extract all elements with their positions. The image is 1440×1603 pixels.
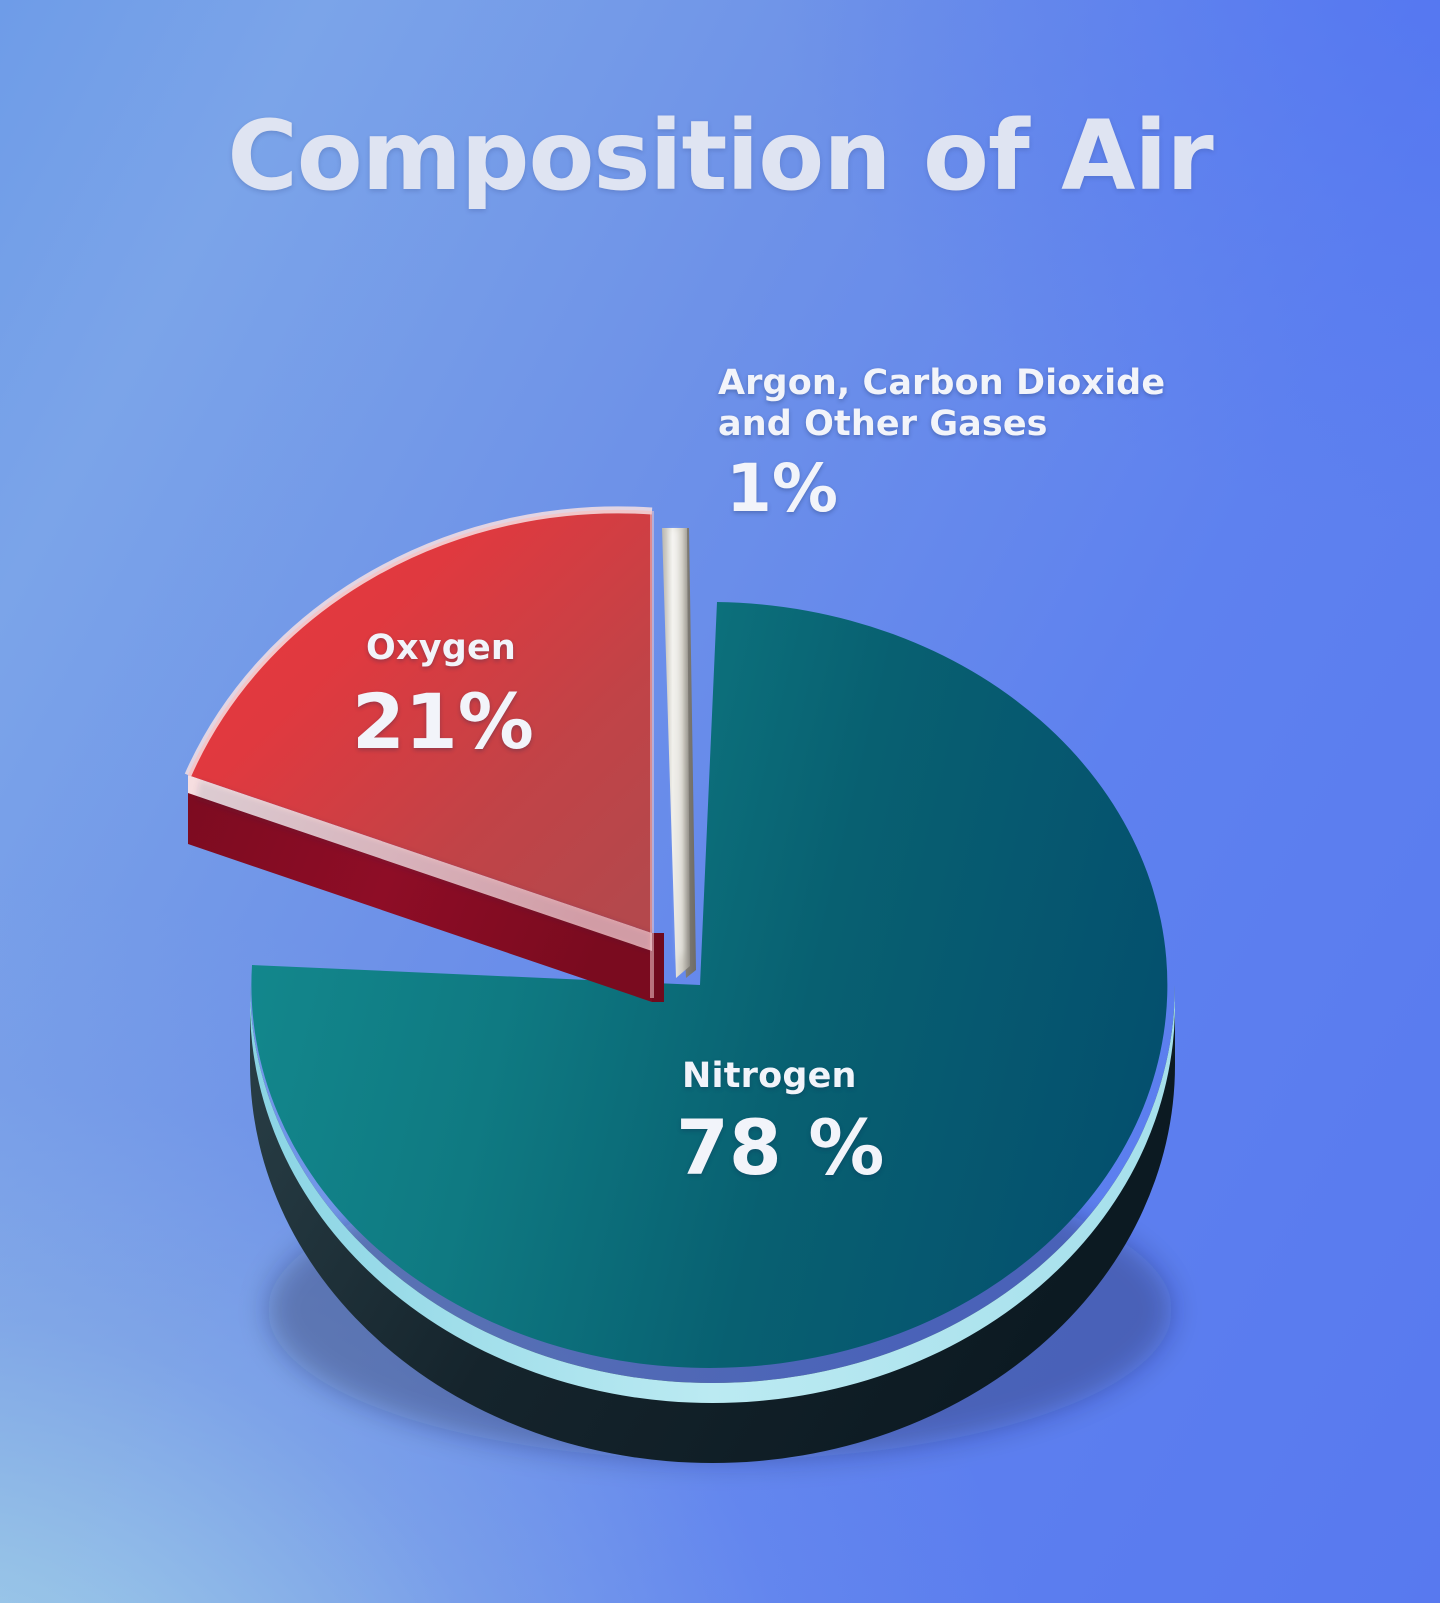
- argon-label-line1: Argon, Carbon Dioxide: [718, 363, 1165, 403]
- oxygen-label-text: Oxygen: [366, 628, 652, 668]
- pie-chart-infographic: Composition of Air: [0, 0, 1440, 1603]
- nitrogen-label-text: Nitrogen: [682, 1056, 996, 1096]
- nitrogen-value-text: 78 %: [676, 1110, 996, 1186]
- argon-label-group: Argon, Carbon Dioxide and Other Gases 1%: [718, 363, 1238, 522]
- pie-chart-graphic: [0, 0, 1440, 1603]
- oxygen-label-group: Oxygen 21%: [352, 628, 652, 760]
- argon-label-line2: and Other Gases: [718, 404, 1048, 444]
- oxygen-value-text: 21%: [352, 684, 652, 760]
- argon-slice: [662, 528, 696, 978]
- nitrogen-label-group: Nitrogen 78 %: [676, 1056, 996, 1186]
- argon-value-text: 1%: [726, 456, 1238, 522]
- argon-label-text: Argon, Carbon Dioxide and Other Gases: [718, 363, 1238, 446]
